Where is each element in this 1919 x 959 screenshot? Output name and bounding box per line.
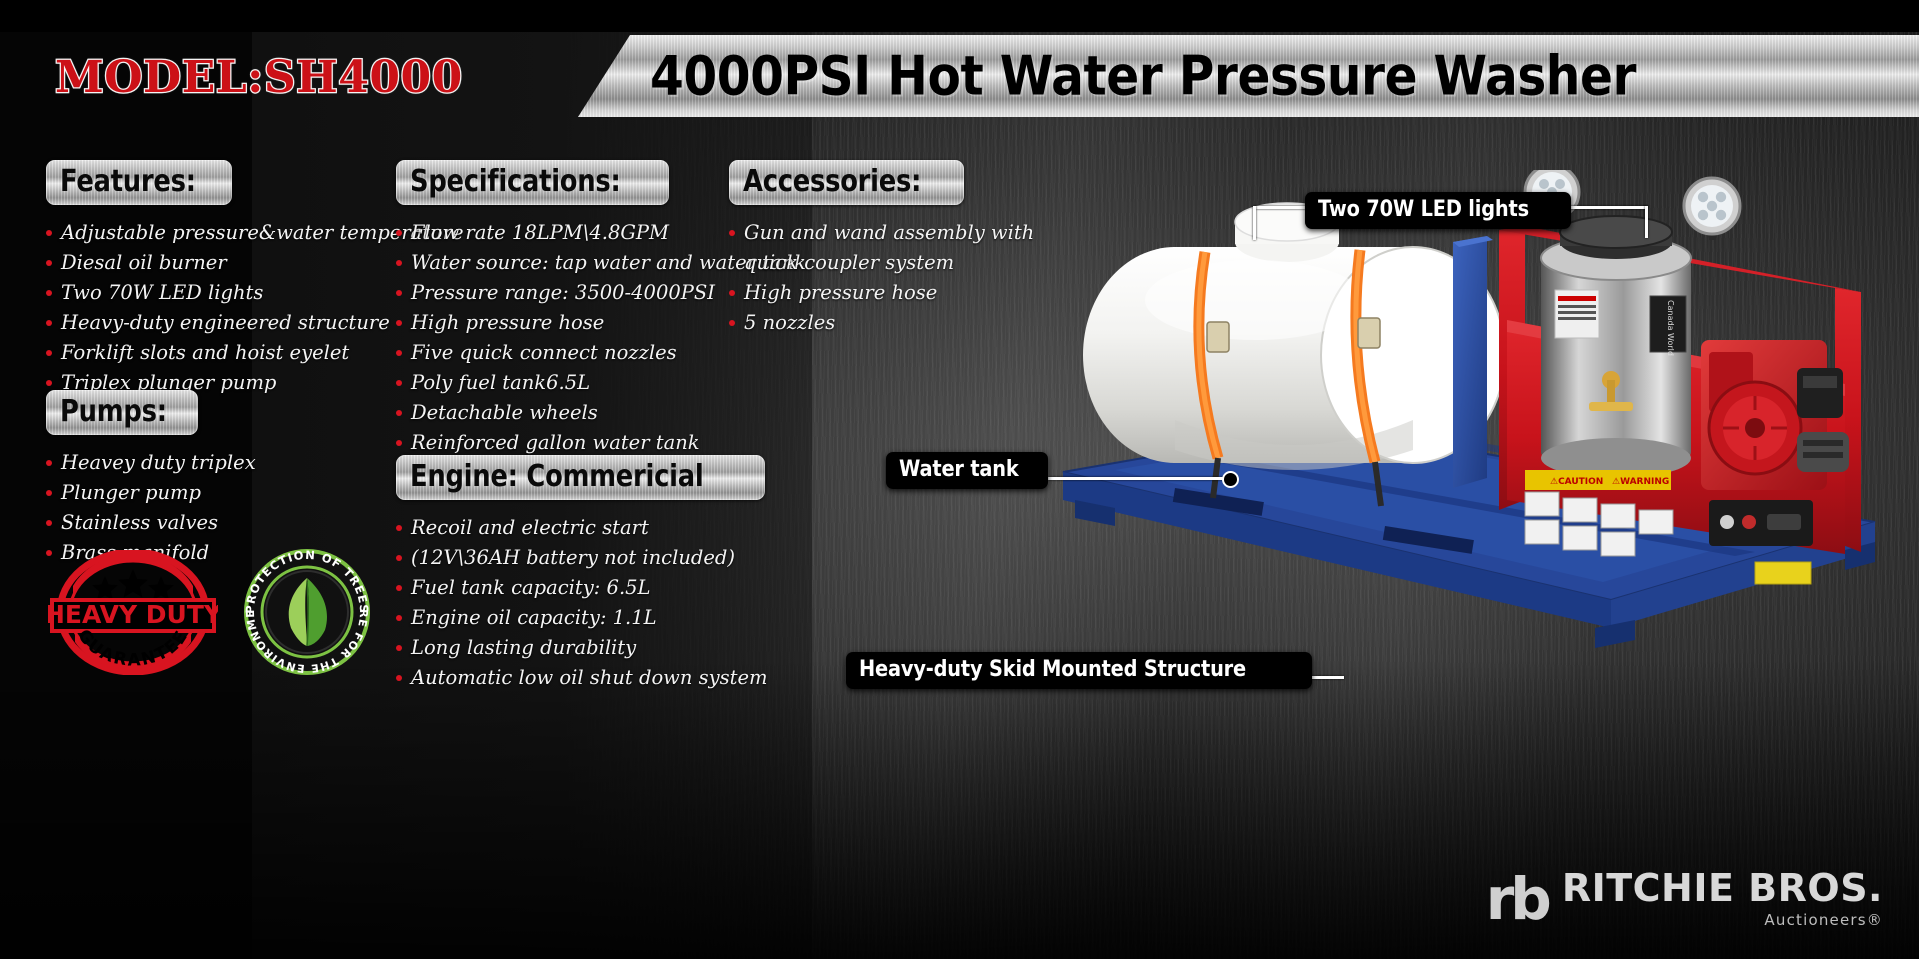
accessories-heading-badge: Accessories: [729,160,964,205]
list-item-continuation: quick coupler system [729,249,1034,276]
list-item: Automatic low oil shut down system [396,664,768,691]
specifications-heading-badge: Specifications: [396,160,669,205]
heavy-duty-guarantee-seal: HEAVY DUTY GUARANTEE [48,550,218,675]
svg-text:⚠WARNING: ⚠WARNING [1612,477,1669,487]
rb-logo-subtitle: Auctioneers® [1562,911,1883,929]
accessories-column: Accessories: Gun and wand assembly with … [729,160,1034,339]
callout-water-tank-text: Water tank [899,457,1019,482]
leader-line-lights-vertical [1253,206,1256,240]
callout-led-lights-text: Two 70W LED lights [1318,197,1529,222]
callout-led-lights: Two 70W LED lights [1305,192,1571,229]
list-item: Heavey duty triplex [46,449,256,476]
engine-column: Engine: Commericial Recoil and electric … [396,455,768,694]
svg-text:Canada World: Canada World [1666,300,1675,356]
features-heading-text: Features: [60,164,196,199]
list-item: Engine oil capacity: 1.1L [396,604,768,631]
leader-line-lights-right-vertical [1645,206,1648,238]
engine-heading-badge: Engine: Commericial [396,455,765,500]
leader-dot-water-tank [1222,471,1239,488]
leaf-icon [289,578,327,646]
specifications-heading-text: Specifications: [410,164,621,199]
list-item: Five quick connect nozzles [396,339,806,366]
list-item: 5 nozzles [729,309,1034,336]
model-tag: MODEL:SH4000 [55,52,463,103]
callout-water-tank: Water tank [886,452,1048,489]
accessories-list: Gun and wand assembly with quick coupler… [729,219,1034,336]
ritchie-bros-logo: rb RITCHIE BROS. Auctioneers® [1486,869,1883,929]
pumps-column: Pumps: Heavey duty triplex Plunger pump … [46,390,256,569]
product-poster: MODEL:SH4000 4000PSI Hot Water Pressure … [0,0,1919,959]
list-item: Gun and wand assembly with [729,219,1034,246]
boiler: Canada World [1541,216,1691,478]
list-item: Fuel tank capacity: 6.5L [396,574,768,601]
list-item: High pressure hose [729,279,1034,306]
svg-text:⚠CAUTION: ⚠CAUTION [1550,477,1603,487]
list-item: Stainless valves [46,509,256,536]
callout-skid-text: Heavy-duty Skid Mounted Structure [859,657,1246,682]
features-heading-badge: Features: [46,160,232,205]
banner-title-text: 4000PSI Hot Water Pressure Washer [650,45,1636,108]
list-item: Detachable wheels [396,399,806,426]
list-item: Recoil and electric start [396,514,768,541]
rb-logo-mark: rb [1486,870,1548,928]
upright-post [1453,236,1493,488]
engine-block [1701,340,1849,490]
engine-heading-text: Engine: Commericial [410,459,703,494]
leader-line-lights [1256,206,1308,209]
pumps-list: Heavey duty triplex Plunger pump Stainle… [46,449,256,566]
engine-list: Recoil and electric start (12V\36AH batt… [396,514,768,691]
list-item: (12V\36AH battery not included) [396,544,768,571]
callout-skid-structure: Heavy-duty Skid Mounted Structure [846,652,1312,689]
accessories-heading-text: Accessories: [743,164,921,199]
list-item: Long lasting durability [396,634,768,661]
environment-protection-seal: PROTECTION OF TREES CARE FOR THE ENVIRON… [243,548,371,676]
list-item: Reinforced gallon water tank [396,429,806,456]
list-item: Poly fuel tank6.5L [396,369,806,396]
leader-line-water-tank [1048,477,1230,480]
top-black-bar [0,0,1919,32]
title-banner: 4000PSI Hot Water Pressure Washer [578,35,1919,117]
pumps-heading-badge: Pumps: [46,390,198,435]
pumps-heading-text: Pumps: [60,394,167,429]
rb-logo-name: RITCHIE BROS. [1562,869,1883,907]
list-item: Plunger pump [46,479,256,506]
svg-text:HEAVY DUTY: HEAVY DUTY [48,600,218,629]
